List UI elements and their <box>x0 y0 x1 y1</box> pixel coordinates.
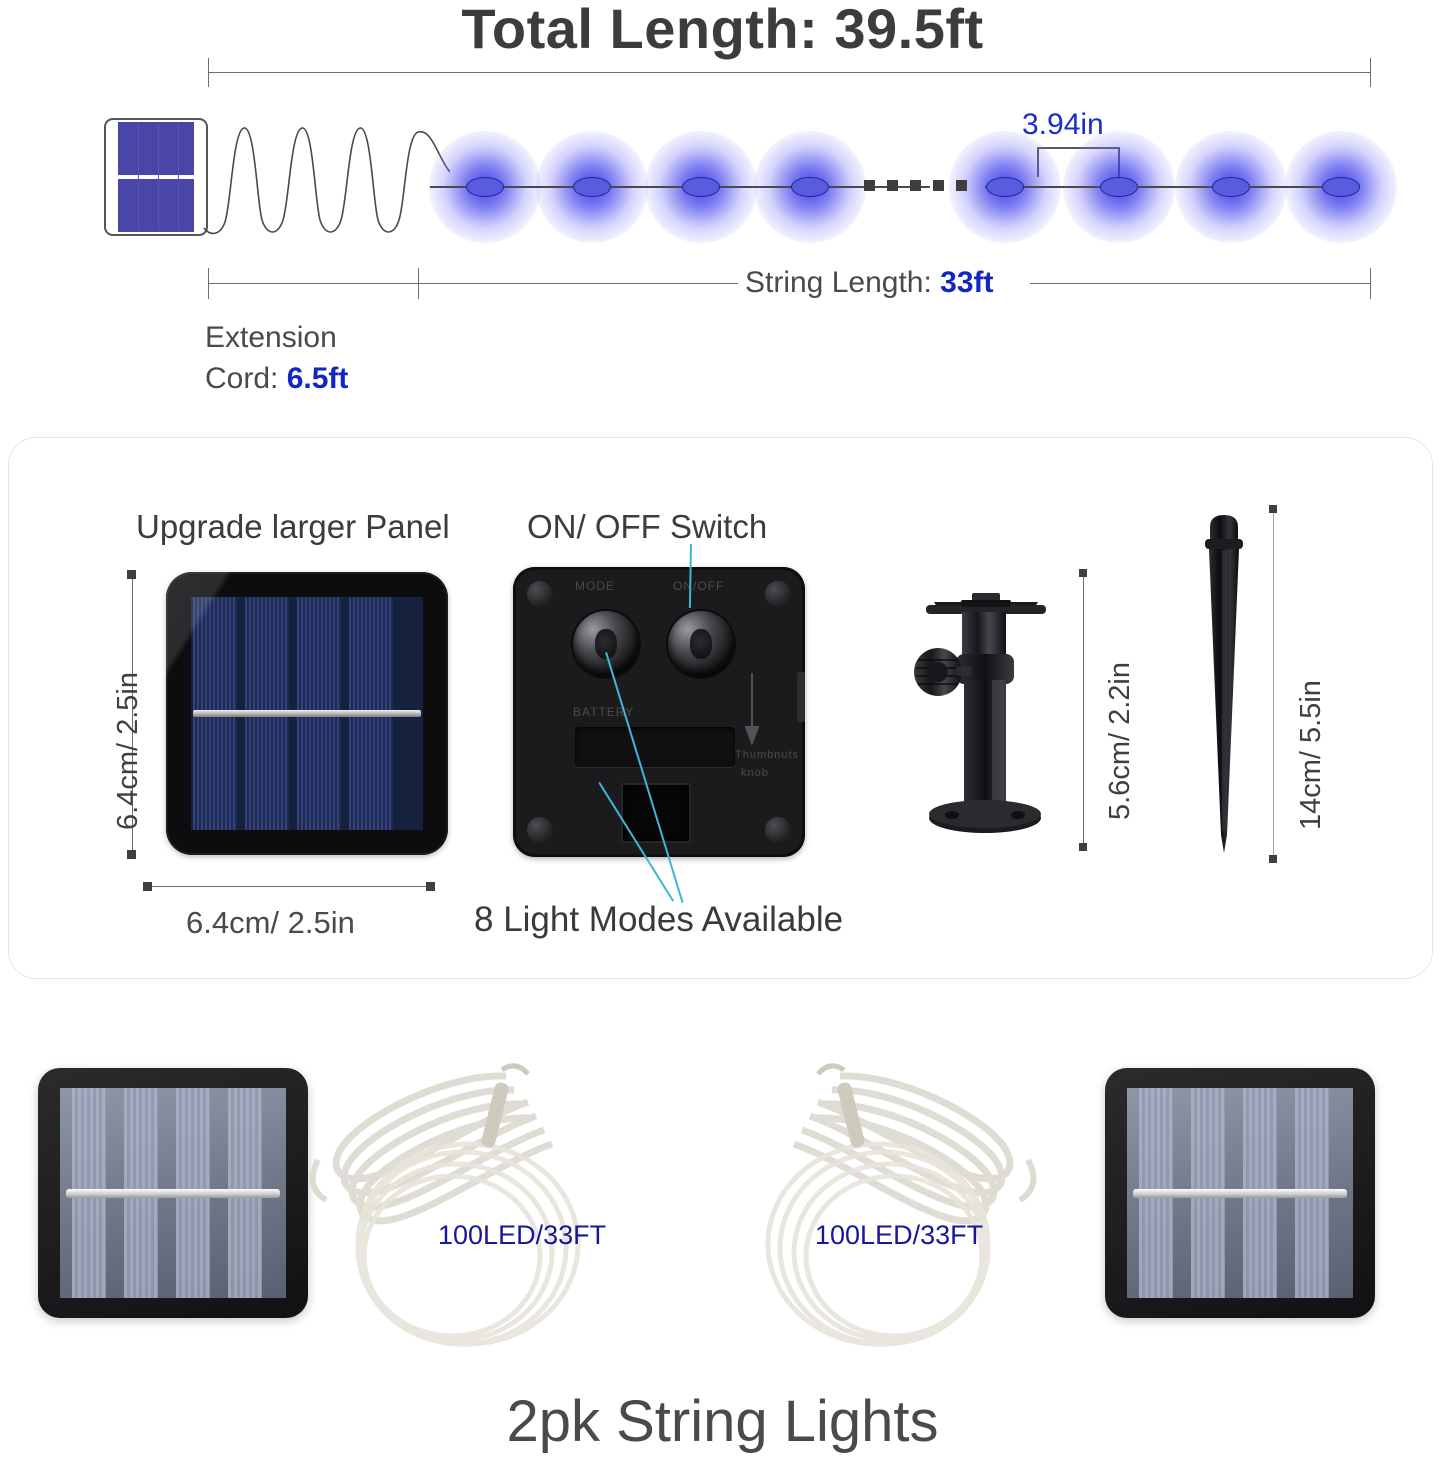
led-bulb <box>1322 177 1360 197</box>
switch-heading: ON/ OFF Switch <box>527 508 767 546</box>
bottom-title: 2pk String Lights <box>0 1388 1445 1455</box>
gap-dot <box>864 180 875 191</box>
side-port <box>797 672 805 722</box>
extension-cord-coil <box>200 110 450 240</box>
screw-icon <box>765 817 791 843</box>
panel-height-cap-top <box>127 570 136 579</box>
string-dim-cap-mid <box>418 268 419 299</box>
led-bulb <box>986 177 1024 197</box>
gap-dot <box>887 180 898 191</box>
bracket-dim-cap-bottom <box>1079 843 1087 851</box>
wire-coil-left <box>296 1040 646 1370</box>
top-dimension-diagram: Total Length: 39.5ft 3.94in <box>0 0 1445 420</box>
panel-busbar <box>66 1189 280 1198</box>
mode-label: MODE <box>575 579 615 593</box>
extension-cord-label-line2: Cord: 6.5ft <box>205 362 348 396</box>
panel-glass <box>191 597 423 830</box>
screw-icon <box>527 581 553 607</box>
led-bulb <box>573 177 611 197</box>
control-box-photo: MODE ON/OFF BATTERY Thumbnuts knob <box>513 567 805 857</box>
product-solar-panel-right <box>1105 1068 1375 1318</box>
solar-panel-glyph <box>104 118 208 236</box>
total-length-cap-left <box>208 58 209 87</box>
panel-width-cap-left <box>143 882 152 891</box>
panel-width-cap-right <box>426 882 435 891</box>
led-string-wire-right <box>985 186 1355 188</box>
panel-width-dim: 6.4cm/ 2.5in <box>186 905 355 941</box>
led-bulb <box>791 177 829 197</box>
bracket-dim: 5.6cm/ 2.2in <box>1104 662 1137 820</box>
panel-height-dim: 6.4cm/ 2.5in <box>112 672 145 830</box>
string-length-line-left <box>208 283 738 284</box>
extension-cord-label-line1: Extension <box>205 321 337 355</box>
led-bulb <box>682 177 720 197</box>
coil-label-left: 100LED/33FT <box>438 1220 606 1251</box>
product-photos-row: 100LED/33FT 100LED/33FT <box>0 1020 1445 1410</box>
thumbnut-note-1: Thumbnuts <box>735 749 799 761</box>
panel-busbar <box>193 710 421 717</box>
panel-height-cap-bottom <box>127 850 136 859</box>
string-length-label: String Length: 33ft <box>745 266 994 300</box>
stake-dim-cap-top <box>1269 505 1277 513</box>
stake-dim: 14cm/ 5.5in <box>1295 680 1328 830</box>
panel-width-line <box>146 886 431 887</box>
onoff-button[interactable] <box>668 611 734 677</box>
total-length-dimension-line <box>208 72 1371 73</box>
string-length-value: 33ft <box>940 266 993 299</box>
wall-mount-bracket-photo <box>906 580 1066 845</box>
gap-dot <box>910 180 921 191</box>
onoff-label: ON/OFF <box>673 579 724 593</box>
total-length-cap-right <box>1370 58 1371 87</box>
bracket-dim-line <box>1083 572 1084 848</box>
solar-panel-photo <box>166 572 448 855</box>
product-solar-panel-left <box>38 1068 308 1318</box>
gap-dot <box>933 180 944 191</box>
gap-dot <box>956 180 967 191</box>
led-bulb <box>466 177 504 197</box>
panel-heading: Upgrade larger Panel <box>136 508 450 546</box>
extension-cord-value: 6.5ft <box>287 362 349 395</box>
screw-icon <box>765 581 791 607</box>
coil-label-right: 100LED/33FT <box>815 1220 983 1251</box>
panel-glass <box>60 1088 286 1298</box>
light-modes-caption: 8 Light Modes Available <box>474 900 843 940</box>
thumbnut-note-2: knob <box>741 767 769 779</box>
battery-slot <box>575 727 735 767</box>
wire-coil-right <box>700 1040 1050 1370</box>
panel-busbar <box>1133 1189 1347 1198</box>
bracket-dim-cap-top <box>1079 569 1087 577</box>
led-bulb <box>1212 177 1250 197</box>
panel-cells <box>118 122 194 232</box>
mode-button[interactable] <box>573 611 639 677</box>
arrow-down-icon <box>745 673 759 745</box>
led-bulb <box>1100 177 1138 197</box>
panel-glass <box>1127 1088 1353 1298</box>
stake-dim-cap-bottom <box>1269 855 1277 863</box>
string-dim-cap-left <box>208 268 209 299</box>
ground-stake-photo <box>1196 505 1252 865</box>
stake-dim-line <box>1273 508 1274 860</box>
led-string-wire-left <box>430 186 930 188</box>
total-length-title: Total Length: 39.5ft <box>0 0 1445 61</box>
string-length-line-right <box>1030 283 1371 284</box>
screw-icon <box>527 817 553 843</box>
string-dim-cap-right <box>1370 268 1371 299</box>
